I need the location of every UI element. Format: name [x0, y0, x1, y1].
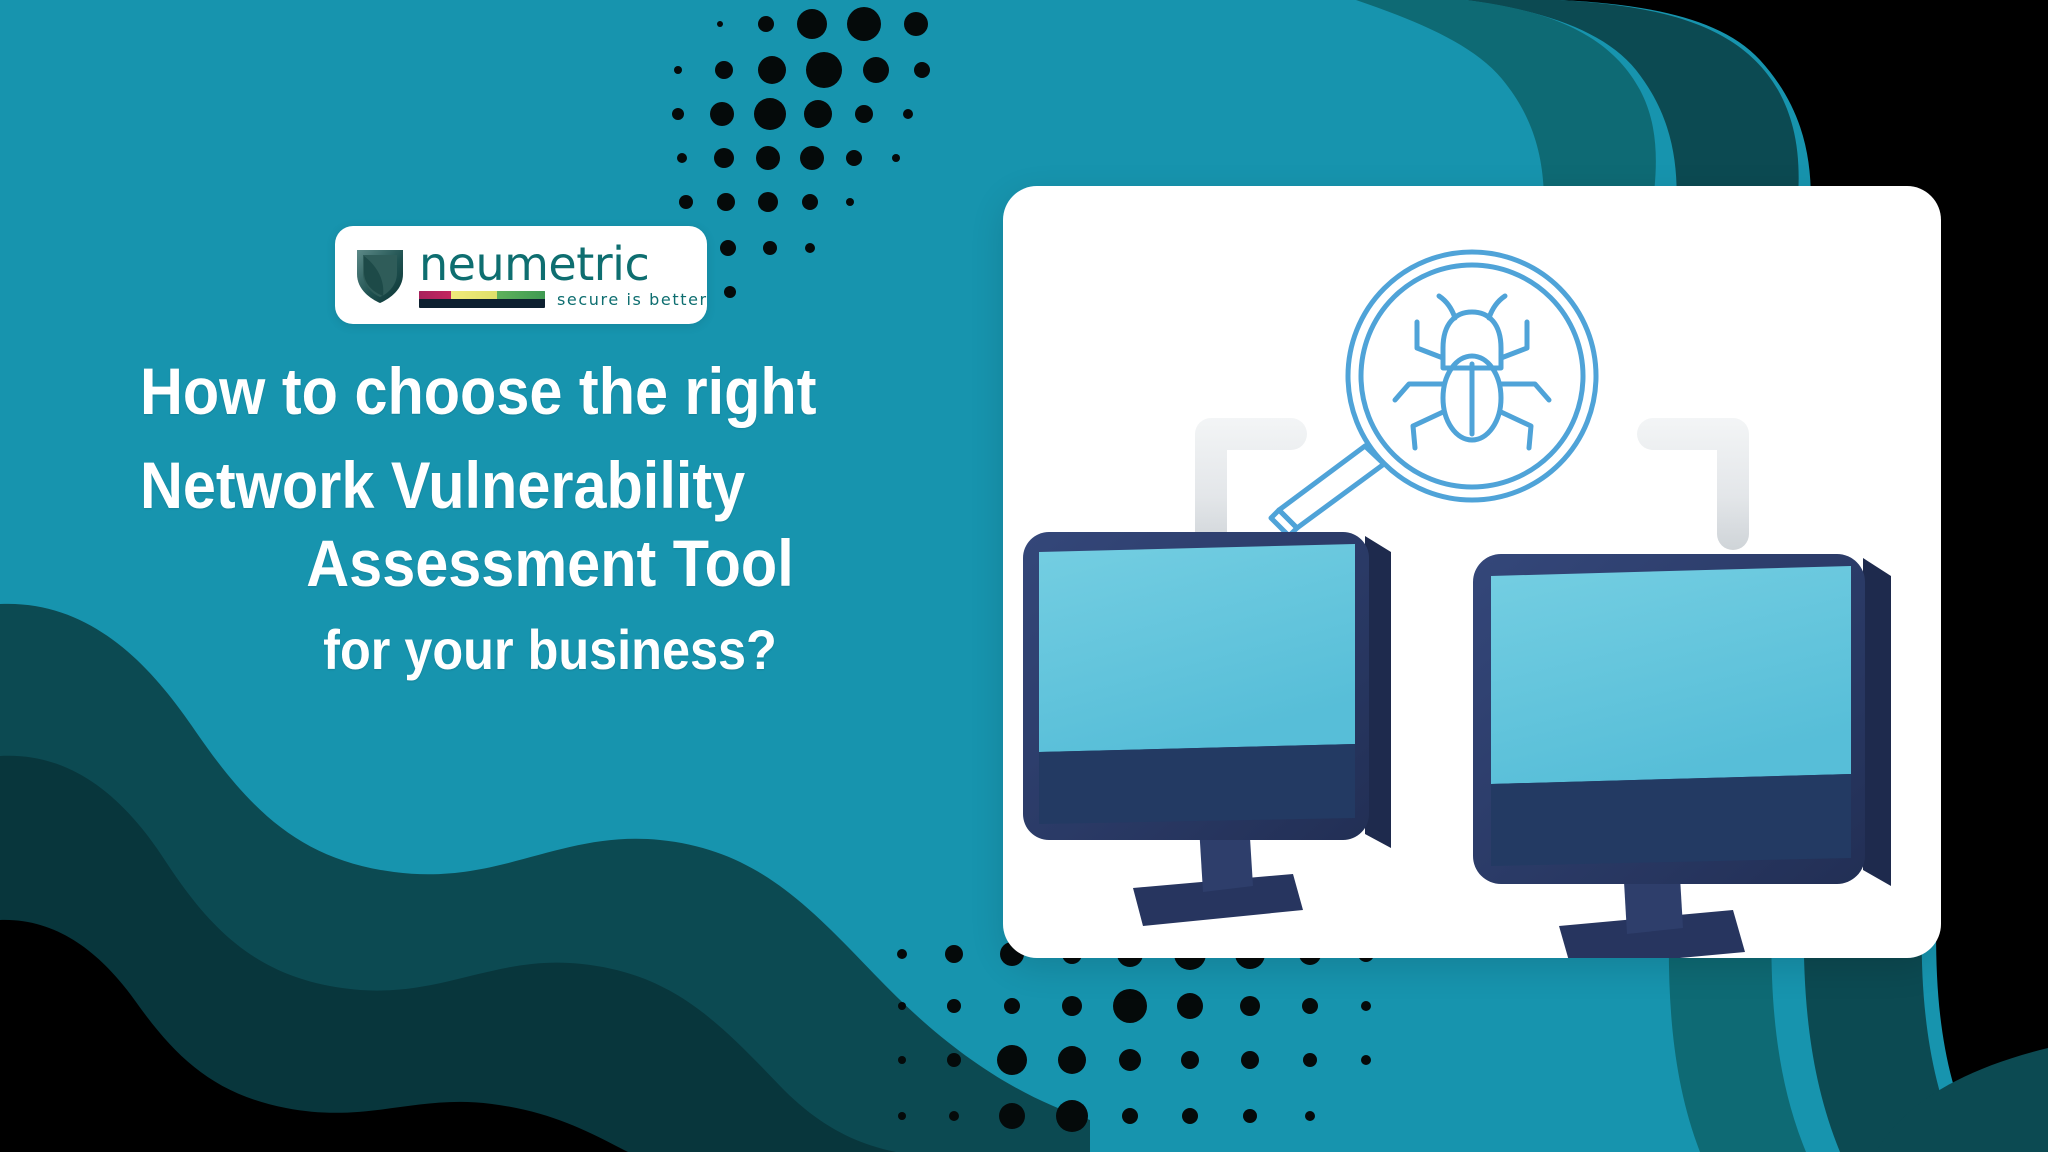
corner-bracket-left-icon: [1195, 418, 1307, 550]
headline-line-4: for your business?: [181, 622, 919, 678]
logo-badge[interactable]: neumetric secure is better: [335, 226, 707, 324]
shield-icon: [353, 244, 407, 306]
illustration-card: [1003, 186, 1941, 958]
headline-line-1: How to choose the right: [140, 358, 878, 424]
logo-wordmark: neumetric: [419, 243, 708, 285]
logo-text: neumetric secure is better: [419, 241, 708, 308]
logo-color-bar: [419, 291, 545, 308]
monitor-icon: [1473, 554, 1891, 958]
headline-block: How to choose the right Network Vulnerab…: [140, 358, 960, 678]
monitor-icon: [1023, 532, 1391, 926]
illustration-graphic: [1003, 186, 1941, 958]
corner-bracket-right-icon: [1637, 418, 1749, 550]
headline-line-3: Assessment Tool: [181, 530, 919, 596]
poster-canvas: neumetric secure is better How to choose…: [0, 0, 2048, 1152]
bug-icon: [1395, 296, 1549, 448]
logo-tagline: secure is better: [557, 290, 708, 309]
headline-line-2: Network Vulnerability: [140, 452, 878, 518]
magnifying-glass-bug-icon: [1271, 252, 1596, 536]
